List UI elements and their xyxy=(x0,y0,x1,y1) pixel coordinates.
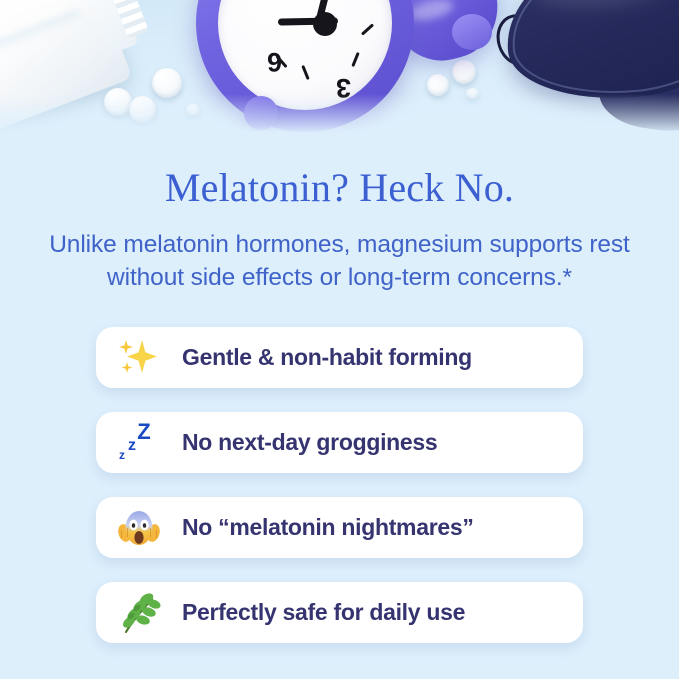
benefit-card[interactable]: Gentle & non-habit forming xyxy=(96,327,583,388)
benefit-card[interactable]: No “melatonin nightmares” xyxy=(96,497,583,558)
clock-bell-nub xyxy=(452,14,492,50)
clock-tick xyxy=(361,23,374,35)
svg-text:z: z xyxy=(119,448,125,462)
loose-pill xyxy=(466,88,479,99)
hero-photo: 6 3 xyxy=(0,0,679,140)
benefit-card[interactable]: Z z z No next-day grogginess xyxy=(96,412,583,473)
clock-center-pin xyxy=(313,12,337,36)
alarm-clock: 6 3 xyxy=(196,0,414,132)
face-screaming-icon xyxy=(96,506,182,550)
loose-pill xyxy=(427,74,449,96)
herb-icon xyxy=(96,590,182,636)
loose-pill xyxy=(186,104,200,116)
benefit-label: No next-day grogginess xyxy=(182,429,437,456)
page-title: Melatonin? Heck No. xyxy=(0,166,679,210)
loose-pill xyxy=(452,60,476,84)
sleep-mask xyxy=(500,0,679,108)
clock-tick xyxy=(351,52,359,67)
pill-bottle xyxy=(0,0,173,140)
benefit-card[interactable]: Perfectly safe for daily use xyxy=(96,582,583,643)
benefit-label: No “melatonin nightmares” xyxy=(182,514,474,541)
clock-face: 6 3 xyxy=(218,0,392,110)
page-subtitle: Unlike melatonin hormones, magnesium sup… xyxy=(27,229,652,294)
zzz-icon: Z z z xyxy=(96,421,182,465)
promo-panel: 6 3 Melatonin? Heck No. Unlike melat xyxy=(0,0,679,679)
loose-pill xyxy=(152,68,182,98)
clock-tick xyxy=(301,65,309,80)
svg-text:z: z xyxy=(128,437,136,454)
loose-pill xyxy=(104,88,132,116)
benefit-label: Gentle & non-habit forming xyxy=(182,344,472,371)
benefit-label: Perfectly safe for daily use xyxy=(182,599,465,626)
loose-pill xyxy=(129,96,156,123)
mask-piping xyxy=(505,0,679,102)
clock-numeral-3: 3 xyxy=(336,72,351,103)
clock-foot xyxy=(244,96,278,130)
benefit-list: Gentle & non-habit forming Z z z No next… xyxy=(96,327,583,643)
svg-text:Z: Z xyxy=(137,421,150,444)
sparkles-icon xyxy=(96,336,182,380)
